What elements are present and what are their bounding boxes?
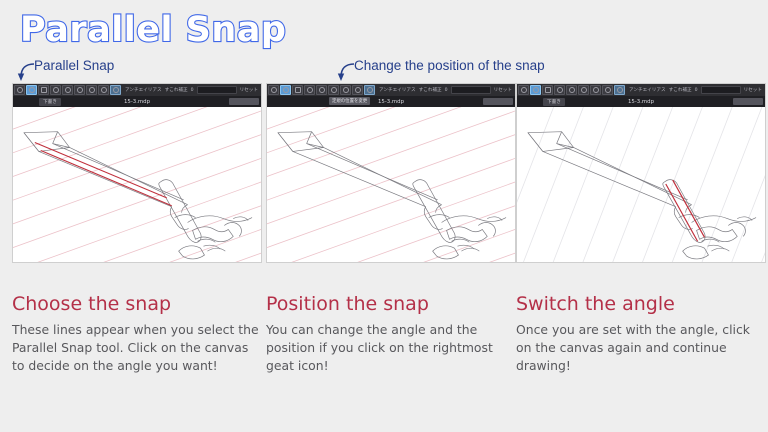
- columns-container: Parallel Snap アンチエイリアス すこれ補正 0 リセット: [0, 58, 768, 432]
- stabilizer-slider-1[interactable]: [451, 86, 491, 94]
- active-snap-guides-2: [666, 180, 705, 241]
- app-window-2: アンチエイリアス すこれ補正 0 リセット 下書き 15-3.mdp: [516, 83, 766, 263]
- reset-label-1[interactable]: リセット: [494, 87, 512, 93]
- tool-button-curve-snap[interactable]: [86, 85, 97, 95]
- tool-button-radial-snap[interactable]: [316, 85, 327, 95]
- parallel-snap-tool-button[interactable]: [26, 85, 37, 95]
- caption-body-1: You can change the angle and the positio…: [266, 321, 518, 375]
- titlebar-right-control-2[interactable]: [733, 98, 763, 105]
- annotation-1: Change the position of the snap: [266, 58, 516, 84]
- caption-2: Switch the angle Once you are set with t…: [516, 293, 768, 375]
- page-title: Parallel Snap: [20, 10, 286, 50]
- stabilizer-slider-0[interactable]: [197, 86, 237, 94]
- sword-drawing-1: [278, 132, 506, 259]
- tool-button-perspective-snap[interactable]: [554, 85, 565, 95]
- snap-settings-gear-button[interactable]: [110, 85, 121, 95]
- titlebar-right-control-0[interactable]: [229, 98, 259, 105]
- parallel-snap-tool-button[interactable]: [530, 85, 541, 95]
- tool-button-grid-snap[interactable]: [38, 85, 49, 95]
- titlebar-2: 下書き 15-3.mdp: [517, 96, 765, 107]
- stabilizer-value-1: 0: [445, 88, 448, 93]
- tool-button-circle-snap[interactable]: [328, 85, 339, 95]
- antialias-label-0: アンチエイリアス: [125, 87, 162, 93]
- app-window-0: アンチエイリアス すこれ補正 0 リセット 下書き 15-3.mdp: [12, 83, 262, 263]
- stabilizer-slider-2[interactable]: [701, 86, 741, 94]
- sword-drawing-0: [24, 132, 252, 259]
- document-name-0: 15-3.mdp: [13, 99, 261, 105]
- caption-heading-1: Position the snap: [266, 293, 518, 315]
- tool-button-grid-snap[interactable]: [542, 85, 553, 95]
- document-name-2: 15-3.mdp: [517, 99, 765, 105]
- snap-lines-0: [13, 107, 261, 262]
- column-switch-the-angle: アンチエイリアス すこれ補正 0 リセット 下書き 15-3.mdp: [516, 58, 766, 84]
- tool-button-radial-snap[interactable]: [566, 85, 577, 95]
- tool-button-symmetry-snap[interactable]: [602, 85, 613, 95]
- reset-label-2[interactable]: リセット: [744, 87, 762, 93]
- antialias-label-2: アンチエイリアス: [629, 87, 666, 93]
- annotation-2: [516, 58, 766, 84]
- canvas-1[interactable]: [267, 107, 515, 262]
- document-name-1: 15-3.mdp: [267, 99, 515, 105]
- toolbar-0: アンチエイリアス すこれ補正 0 リセット: [13, 84, 261, 96]
- tool-button-symmetry-snap[interactable]: [98, 85, 109, 95]
- snap-lines-1: [267, 107, 515, 262]
- tool-button-symmetry-snap[interactable]: [352, 85, 363, 95]
- canvas-2[interactable]: [517, 107, 765, 262]
- column-choose-the-snap: Parallel Snap アンチエイリアス すこれ補正 0 リセット: [12, 58, 262, 84]
- caption-0: Choose the snap These lines appear when …: [12, 293, 264, 375]
- stabilizer-label-1: すこれ補正: [419, 87, 442, 93]
- tool-button-grid-snap[interactable]: [292, 85, 303, 95]
- toolbar-2: アンチエイリアス すこれ補正 0 リセット: [517, 84, 765, 96]
- caption-heading-0: Choose the snap: [12, 293, 264, 315]
- caption-body-2: Once you are set with the angle, click o…: [516, 321, 768, 375]
- canvas-0[interactable]: [13, 107, 261, 262]
- snap-settings-gear-button[interactable]: [364, 85, 375, 95]
- tool-button-perspective-snap[interactable]: [304, 85, 315, 95]
- tool-button-perspective-snap[interactable]: [50, 85, 61, 95]
- titlebar-1: 下書き 15-3.mdp: [267, 96, 515, 107]
- reset-label-0[interactable]: リセット: [240, 87, 258, 93]
- tool-button-no-snap[interactable]: [518, 85, 529, 95]
- tool-button-radial-snap[interactable]: [62, 85, 73, 95]
- stabilizer-value-2: 0: [695, 88, 698, 93]
- titlebar-0: 下書き 15-3.mdp: [13, 96, 261, 107]
- caption-1: Position the snap You can change the ang…: [266, 293, 518, 375]
- antialias-label-1: アンチエイリアス: [379, 87, 416, 93]
- parallel-snap-tool-button[interactable]: [280, 85, 291, 95]
- app-window-1: アンチエイリアス すこれ補正 0 リセット 定規の位置を変更 下書き 15-3.…: [266, 83, 516, 263]
- annotation-label-0: Parallel Snap: [34, 58, 114, 73]
- column-position-the-snap: Change the position of the snap アンチエイリアス…: [266, 58, 516, 84]
- stabilizer-label-2: すこれ補正: [669, 87, 692, 93]
- titlebar-right-control-1[interactable]: [483, 98, 513, 105]
- tool-button-circle-snap[interactable]: [74, 85, 85, 95]
- tool-button-circle-snap[interactable]: [578, 85, 589, 95]
- tool-button-no-snap[interactable]: [14, 85, 25, 95]
- toolbar-1: アンチエイリアス すこれ補正 0 リセット 定規の位置を変更: [267, 84, 515, 96]
- snap-settings-gear-button[interactable]: [614, 85, 625, 95]
- snap-settings-tooltip: 定規の位置を変更: [329, 97, 370, 105]
- tool-button-no-snap[interactable]: [268, 85, 279, 95]
- caption-heading-2: Switch the angle: [516, 293, 768, 315]
- canvas-artwork-0: [13, 107, 261, 262]
- snap-lines-2: [517, 107, 765, 262]
- caption-body-0: These lines appear when you select the P…: [12, 321, 264, 375]
- canvas-artwork-2: [517, 107, 765, 262]
- stabilizer-value-0: 0: [191, 88, 194, 93]
- stabilizer-label-0: すこれ補正: [165, 87, 188, 93]
- annotation-0: Parallel Snap: [12, 58, 262, 84]
- tool-button-curve-snap[interactable]: [340, 85, 351, 95]
- tool-button-curve-snap[interactable]: [590, 85, 601, 95]
- canvas-artwork-1: [267, 107, 515, 262]
